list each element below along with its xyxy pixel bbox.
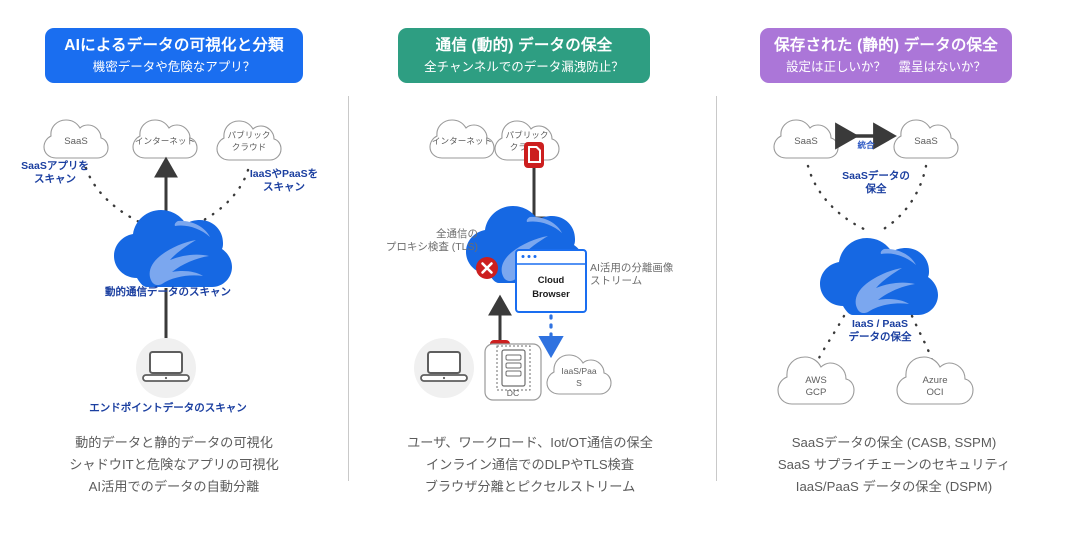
- footnote-item: ユーザ、ワークロード、Iot/OT通信の保全: [356, 432, 704, 454]
- cloud-iaas-label-2: S: [576, 378, 582, 388]
- column-divider-1: [348, 96, 349, 481]
- cloud-aws-label-2: GCP: [806, 387, 827, 398]
- banner-subtitle: 設定は正しいか？ 露呈はないか？: [786, 59, 986, 75]
- caption-saas-protect-line1: SaaSデータの: [842, 170, 910, 182]
- caption-scan-iaas: IaaSやPaaSをスキャン: [232, 168, 336, 194]
- caption-proxy-line2: プロキシ検査 (TLS): [386, 241, 478, 253]
- caption-saas-protect-line2: 保全: [866, 183, 887, 195]
- cloud-public-label-1: パブリック: [228, 129, 271, 140]
- caption-iaas-protect-line2: データの保全: [849, 331, 912, 343]
- cloud-saas-left: SaaS: [774, 120, 838, 158]
- cloud-browser-label-2: Browser: [532, 288, 570, 299]
- endpoint-laptop: [136, 338, 196, 398]
- cloud-browser-label-1: Cloud: [538, 274, 565, 285]
- cloud-internet-label: インターネット: [432, 136, 492, 146]
- footnote-item: SaaSデータの保全 (CASB, SSPM): [720, 432, 1068, 454]
- caption-iaas-protect: IaaS / PaaSデータの保全: [824, 318, 936, 344]
- caption-iaas-protect-line1: IaaS / PaaS: [852, 318, 908, 330]
- cloud-saas-left-label: SaaS: [794, 136, 817, 147]
- footnote-item: IaaS/PaaS データの保全 (DSPM): [720, 476, 1068, 498]
- cloud-browser-window: Cloud Browser: [516, 250, 586, 312]
- cloud-internet-label: インターネット: [135, 136, 195, 146]
- footnote-item: インライン通信でのDLPやTLS検査: [356, 454, 704, 476]
- cloud-internet: インターネット: [133, 120, 197, 158]
- footnote-item: SaaS サプライチェーンのセキュリティ: [720, 454, 1068, 476]
- banner-title: 通信 (動的) データの保全: [436, 36, 613, 55]
- column-in-motion: 通信 (動的) データの保全 全チャンネルでのデータ漏洩防止？ インターネット: [356, 0, 704, 554]
- caption-scan-inflight: 動的通信データのスキャン: [44, 286, 292, 299]
- tls-block-x-icon: [476, 257, 498, 279]
- diagram-at-rest: SaaS SaaS: [720, 96, 1068, 426]
- cloud-azure-oci: Azure OCI: [897, 357, 973, 404]
- cloud-aws-label-1: AWS: [805, 375, 827, 386]
- cloud-public: パブリック クラウド: [217, 121, 281, 160]
- cloud-saas-right: SaaS: [894, 120, 958, 158]
- datacenter-label: DC: [507, 388, 519, 398]
- banner-title: AIによるデータの可視化と分類: [64, 36, 284, 55]
- banner-subtitle: 機密データや危険なアプリ？: [93, 59, 256, 75]
- caption-integration: 統合: [843, 140, 889, 151]
- column-visibility: AIによるデータの可視化と分類 機密データや危険なアプリ？ SaaS: [0, 0, 348, 554]
- cloud-iaas-paas: IaaS/Paa S: [547, 355, 611, 394]
- cloud-iaas-label-1: IaaS/Paa: [561, 366, 597, 376]
- cloud-aws-gcp: AWS GCP: [778, 357, 854, 404]
- zscaler-cloud-logo: [820, 238, 938, 315]
- column-divider-2: [716, 96, 717, 481]
- caption-scan-iaas-line2: スキャン: [263, 181, 305, 193]
- caption-scan-endpoint: エンドポイントデータのスキャン: [24, 402, 312, 415]
- caption-isolation-line1: AI活用の分離画像: [590, 262, 673, 274]
- footnote-item: シャドウITと危険なアプリの可視化: [0, 454, 348, 476]
- caption-proxy-line1: 全通信の: [436, 228, 478, 240]
- cloud-azure-label-1: Azure: [922, 375, 947, 386]
- diagram-canvas: AIによるデータの可視化と分類 機密データや危険なアプリ？ SaaS: [0, 0, 1080, 554]
- banner-title: 保存された (静的) データの保全: [774, 36, 998, 55]
- cloud-public-label-1: パブリック: [506, 129, 549, 140]
- footnotes-at-rest: SaaSデータの保全 (CASB, SSPM) SaaS サプライチェーンのセキ…: [720, 432, 1068, 498]
- caption-proxy-inspection: 全通信のプロキシ検査 (TLS): [366, 228, 478, 254]
- caption-scan-saas-line1: SaaSアプリを: [21, 160, 89, 172]
- footnotes-in-motion: ユーザ、ワークロード、Iot/OT通信の保全 インライン通信でのDLPやTLS検…: [356, 432, 704, 498]
- footnotes-visibility: 動的データと静的データの可視化 シャドウITと危険なアプリの可視化 AI活用での…: [0, 432, 348, 498]
- banner-in-motion: 通信 (動的) データの保全 全チャンネルでのデータ漏洩防止？: [398, 28, 650, 83]
- endpoint-laptop: [414, 338, 474, 398]
- caption-isolation-stream: AI活用の分離画像ストリーム: [590, 262, 702, 288]
- zscaler-cloud-logo: [114, 210, 232, 287]
- footnote-item: 動的データと静的データの可視化: [0, 432, 348, 454]
- cloud-saas-right-label: SaaS: [914, 136, 937, 147]
- cloud-azure-label-2: OCI: [926, 387, 943, 398]
- footnote-item: ブラウザ分離とピクセルストリーム: [356, 476, 704, 498]
- cloud-saas: SaaS: [44, 120, 108, 158]
- footnote-item: AI活用でのデータの自動分離: [0, 476, 348, 498]
- cloud-public-label-2: クラウド: [232, 142, 266, 152]
- caption-scan-saas-line2: スキャン: [34, 173, 76, 185]
- data-block-badge-icon: [524, 142, 544, 168]
- column-at-rest: 保存された (静的) データの保全 設定は正しいか？ 露呈はないか？ SaaS: [720, 0, 1068, 554]
- banner-visibility: AIによるデータの可視化と分類 機密データや危険なアプリ？: [45, 28, 303, 83]
- datacenter-box: DC: [485, 344, 541, 400]
- caption-scan-iaas-line1: IaaSやPaaSを: [250, 168, 318, 180]
- cloud-internet: インターネット: [430, 120, 494, 158]
- caption-saas-protect: SaaSデータの保全: [824, 170, 928, 196]
- diagram-visibility: SaaS インターネット パブリック クラウド: [0, 96, 348, 426]
- banner-subtitle: 全チャンネルでのデータ漏洩防止？: [424, 59, 624, 75]
- caption-isolation-line2: ストリーム: [590, 275, 642, 287]
- caption-scan-saas: SaaSアプリをスキャン: [8, 160, 102, 186]
- cloud-saas-label: SaaS: [64, 136, 87, 147]
- diagram-in-motion: インターネット パブリック クラウド: [356, 96, 704, 426]
- banner-at-rest: 保存された (静的) データの保全 設定は正しいか？ 露呈はないか？: [760, 28, 1012, 83]
